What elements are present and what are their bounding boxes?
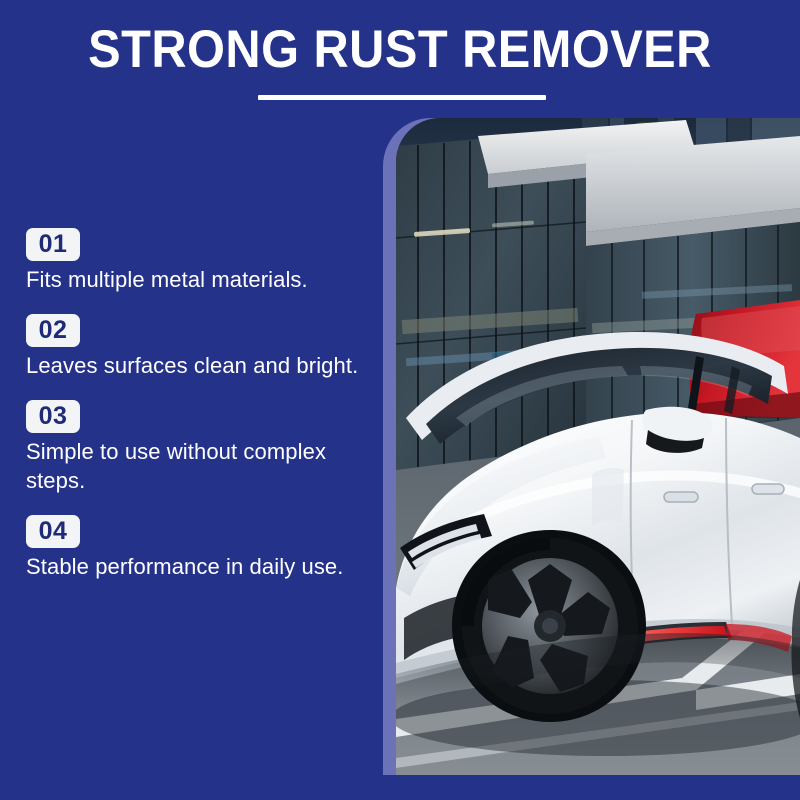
feature-list: 01 Fits multiple metal materials. 02 Lea… [26, 228, 376, 601]
list-item: 01 Fits multiple metal materials. [26, 228, 376, 294]
feature-description: Fits multiple metal materials. [26, 265, 371, 294]
feature-description: Leaves surfaces clean and bright. [26, 351, 371, 380]
feature-number-badge: 01 [26, 228, 80, 261]
list-item: 03 Simple to use without complex steps. [26, 400, 376, 495]
feature-number-badge: 02 [26, 314, 80, 347]
poster-header: STRONG RUST REMOVER [0, 0, 800, 118]
product-feature-poster: STRONG RUST REMOVER 01 Fits multiple met… [0, 0, 800, 800]
title-divider [258, 95, 546, 100]
feature-number-badge: 03 [26, 400, 80, 433]
feature-number-badge: 04 [26, 515, 80, 548]
page-title: STRONG RUST REMOVER [32, 22, 768, 78]
car-scene-illustration: 0 [396, 118, 800, 775]
product-photo: 0 [396, 118, 800, 775]
feature-description: Stable performance in daily use. [26, 552, 371, 581]
product-photo-frame: 0 [383, 118, 800, 775]
feature-description: Simple to use without complex steps. [26, 437, 371, 495]
list-item: 02 Leaves surfaces clean and bright. [26, 314, 376, 380]
list-item: 04 Stable performance in daily use. [26, 515, 376, 581]
